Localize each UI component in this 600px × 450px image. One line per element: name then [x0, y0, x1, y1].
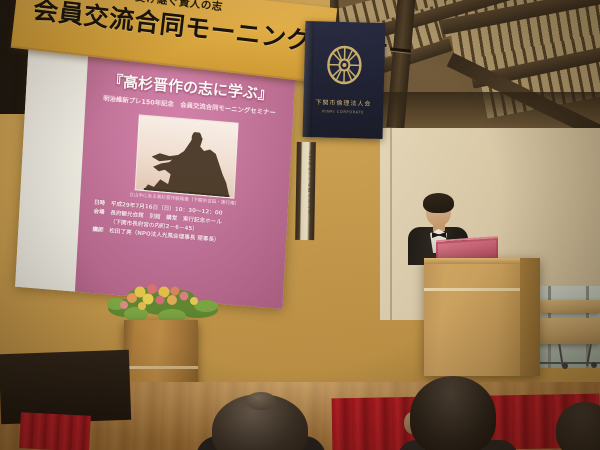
organization-romaji: RINRI CORPORATE	[322, 109, 364, 114]
photograph-scene: 下関市倫理法人会・下関中央倫理法人会 受け継ぐ賢人の志 『高杉晋作の志に学ぶ』 …	[0, 0, 600, 450]
table-caster	[562, 363, 568, 369]
rinri-emblem-icon	[323, 43, 366, 86]
slide-photo	[135, 114, 239, 198]
speaker-podium	[424, 258, 540, 376]
pedestal-trim-band	[124, 366, 198, 369]
equestrian-statue-silhouette	[144, 128, 233, 197]
scroll-text: 人生は心一つの置きどころ	[302, 150, 313, 215]
folding-table	[540, 300, 600, 313]
hanging-scroll: 人生は心一つの置きどころ	[295, 142, 316, 240]
table-caster	[591, 362, 597, 368]
speaker-hair	[423, 193, 454, 213]
detail-key	[93, 222, 108, 223]
audience-head	[410, 376, 496, 450]
audience-hair-bun	[246, 392, 276, 410]
wall-seam	[390, 95, 392, 320]
detail-key: 講師	[92, 226, 107, 236]
banner-fold	[302, 21, 314, 137]
slide-details: 日時 平成29年7月16日（日）10：30～12：00 会場 長府観光会館 別館…	[92, 199, 223, 246]
organization-banner: 下関市倫理法人会 RINRI CORPORATE	[302, 21, 385, 139]
organization-name: 下関市倫理法人会	[315, 97, 371, 107]
stage-skirt-cloth	[19, 412, 91, 450]
podium-side-panel	[520, 258, 540, 376]
stage-shadow-area	[0, 350, 131, 424]
